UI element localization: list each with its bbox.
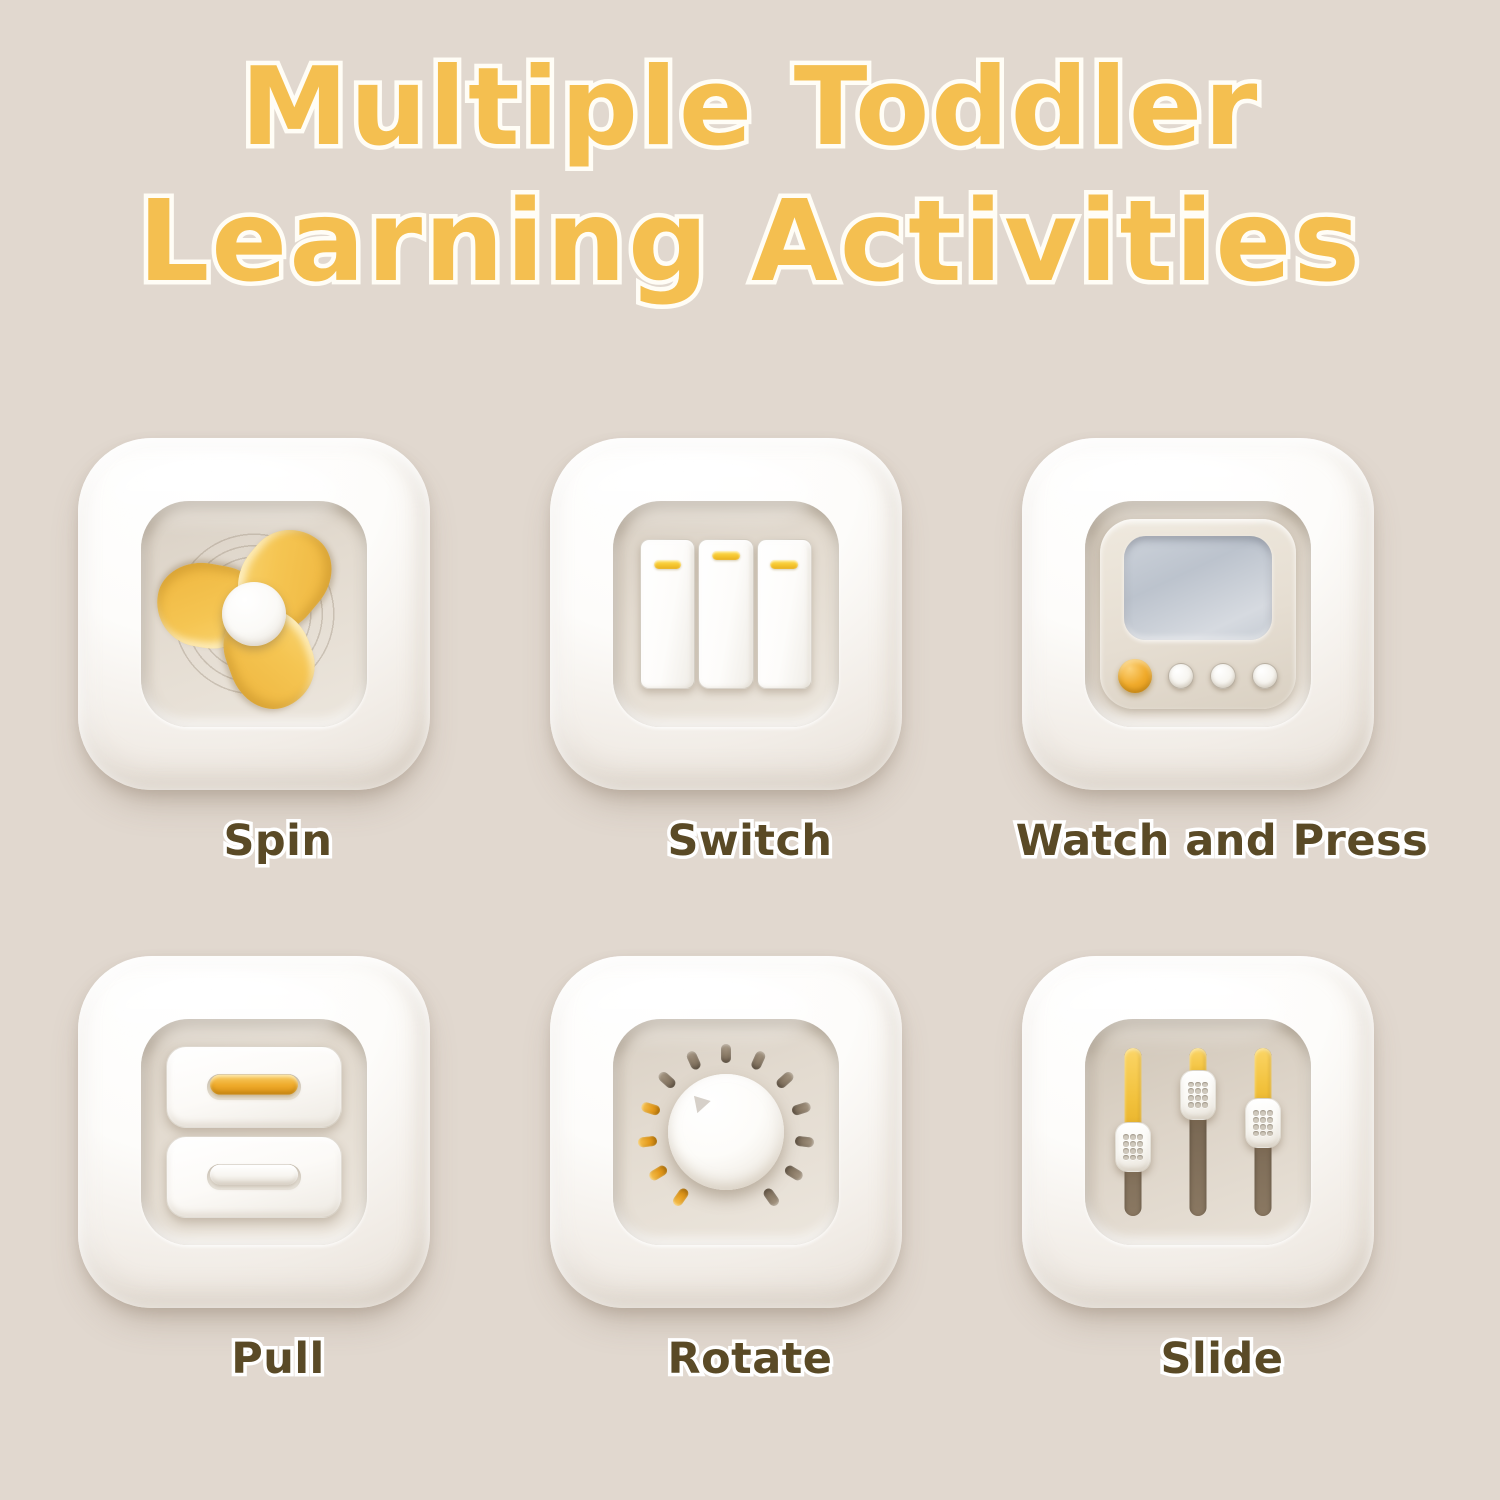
rotary-tick-body: [791, 1101, 812, 1116]
fader-thumb[interactable]: [1245, 1098, 1281, 1148]
rotary-knob-icon[interactable]: [668, 1074, 784, 1190]
activity-caption-spin: Spin: [28, 816, 528, 866]
activity-cell-slide: Slide: [972, 936, 1472, 1466]
grip-dot: [1260, 1124, 1266, 1129]
grip-dot: [1195, 1095, 1201, 1100]
fader-thumb-grip: [1253, 1110, 1273, 1136]
rotary-tick: [750, 1049, 767, 1070]
slider-fader-1[interactable]: [1116, 1048, 1150, 1216]
rotary-tick-body: [783, 1163, 804, 1181]
activity-caption-watch-and-press: Watch and Press: [972, 816, 1472, 866]
switch-indicator-led: [770, 560, 798, 569]
rocker-switch-2[interactable]: [698, 539, 753, 689]
slider-fader-3[interactable]: [1246, 1048, 1280, 1216]
fader-thumb-grip: [1188, 1082, 1208, 1108]
activity-caption-pull: Pull: [28, 1334, 528, 1384]
grip-dot: [1137, 1155, 1143, 1160]
grip-dot: [1267, 1124, 1273, 1129]
rotary-tick-body: [721, 1044, 731, 1063]
grip-dot: [1137, 1134, 1143, 1139]
activity-caption-slide: Slide: [972, 1334, 1472, 1384]
grip-dot: [1267, 1110, 1273, 1115]
activity-cell-watch-and-press: Watch and Press: [972, 418, 1472, 948]
grip-dot: [1188, 1088, 1194, 1093]
fan-icon[interactable]: [154, 514, 354, 714]
activity-tile-switch[interactable]: [550, 438, 902, 790]
grip-dot: [1260, 1117, 1266, 1122]
activity-tile-rotate[interactable]: [550, 956, 902, 1308]
tile-inset-well: [613, 501, 839, 727]
grip-dot: [1260, 1131, 1266, 1136]
grip-dot: [1137, 1148, 1143, 1153]
tv-screen: [1124, 536, 1272, 640]
rotary-tick-body: [637, 1135, 657, 1147]
grip-dot: [1202, 1088, 1208, 1093]
grip-dot: [1253, 1131, 1259, 1136]
activity-cell-rotate: Rotate: [500, 936, 1000, 1466]
grip-dot: [1123, 1148, 1129, 1153]
activity-cell-pull: Pull: [28, 936, 528, 1466]
rotary-tick-body: [794, 1135, 814, 1147]
slider-fader-2[interactable]: [1181, 1048, 1215, 1216]
activity-caption-rotate: Rotate: [500, 1334, 1000, 1384]
activity-cell-switch: Switch: [500, 418, 1000, 948]
activity-grid: Spin Switch: [0, 418, 1500, 1478]
tv-button-2[interactable]: [1168, 663, 1194, 689]
grip-dot: [1253, 1124, 1259, 1129]
switch-indicator-led: [654, 560, 682, 569]
page-title: Multiple Toddler Learning Activities: [0, 42, 1500, 310]
grip-dot: [1202, 1082, 1208, 1087]
activity-tile-spin[interactable]: [78, 438, 430, 790]
fader-thumb-grip: [1123, 1134, 1143, 1160]
pull-tab-handle[interactable]: [210, 1075, 298, 1095]
grip-dot: [1188, 1102, 1194, 1107]
rotary-tick: [783, 1163, 804, 1181]
rocker-switch-icon: [640, 539, 812, 689]
rotary-tick-active: [640, 1101, 661, 1116]
tv-button-3[interactable]: [1210, 663, 1236, 689]
rotary-tick: [762, 1186, 781, 1207]
tile-inset-well: [613, 1019, 839, 1245]
rocker-switch-1[interactable]: [640, 539, 695, 689]
rotary-tick-body: [775, 1069, 796, 1089]
page-title-line-2: Learning Activities: [0, 174, 1500, 311]
rotary-tick-body: [671, 1186, 690, 1207]
tv-button-4[interactable]: [1252, 663, 1278, 689]
grip-dot: [1123, 1141, 1129, 1146]
grip-dot: [1267, 1117, 1273, 1122]
pull-tab-bottom[interactable]: [166, 1136, 342, 1218]
fan-hub: [222, 582, 286, 646]
grip-dot: [1130, 1134, 1136, 1139]
grip-dot: [1253, 1117, 1259, 1122]
grip-dot: [1195, 1088, 1201, 1093]
tile-inset-well: [141, 1019, 367, 1245]
rotary-tick-active: [671, 1186, 690, 1207]
grip-dot: [1260, 1110, 1266, 1115]
activity-tile-slide[interactable]: [1022, 956, 1374, 1308]
rotary-tick: [657, 1069, 678, 1089]
grip-dot: [1202, 1102, 1208, 1107]
grip-dot: [1195, 1082, 1201, 1087]
grip-dot: [1253, 1110, 1259, 1115]
grip-dot: [1195, 1102, 1201, 1107]
grip-dot: [1188, 1095, 1194, 1100]
grip-dot: [1202, 1095, 1208, 1100]
rotary-tick: [791, 1101, 812, 1116]
tv-button-primary[interactable]: [1118, 659, 1152, 693]
knob-pointer-icon: [687, 1090, 710, 1113]
grip-dot: [1137, 1141, 1143, 1146]
grip-dot: [1267, 1131, 1273, 1136]
tile-inset-well: [1085, 501, 1311, 727]
grip-dot: [1123, 1155, 1129, 1160]
activity-caption-switch: Switch: [500, 816, 1000, 866]
grip-dot: [1130, 1155, 1136, 1160]
pull-tab-icon: [166, 1046, 342, 1218]
pull-tab-handle[interactable]: [210, 1165, 298, 1185]
rotary-tick-body: [647, 1163, 668, 1181]
rotary-tick-active: [647, 1163, 668, 1181]
switch-indicator-led: [712, 551, 740, 560]
fader-thumb[interactable]: [1115, 1122, 1151, 1172]
rotary-tick-body: [640, 1101, 661, 1116]
activity-tile-pull[interactable]: [78, 956, 430, 1308]
tile-inset-well: [141, 501, 367, 727]
page-title-line-1: Multiple Toddler: [0, 42, 1500, 174]
tile-inset-well: [1085, 1019, 1311, 1245]
pull-tab-top[interactable]: [166, 1046, 342, 1128]
rotary-tick-body: [762, 1186, 781, 1207]
grip-dot: [1188, 1082, 1194, 1087]
activity-tile-watch-and-press[interactable]: [1022, 438, 1374, 790]
grip-dot: [1123, 1134, 1129, 1139]
rocker-switch-3[interactable]: [757, 539, 812, 689]
grip-dot: [1130, 1141, 1136, 1146]
activity-cell-spin: Spin: [28, 418, 528, 948]
tv-icon: [1100, 519, 1296, 709]
rotary-tick-body: [750, 1049, 767, 1070]
rotary-tick: [685, 1049, 702, 1070]
slider-fader-icon: [1116, 1048, 1280, 1216]
rotary-tick: [794, 1135, 814, 1147]
rotary-tick-body: [657, 1069, 678, 1089]
rotary-tick-active: [637, 1135, 657, 1147]
rotary-tick: [721, 1044, 731, 1063]
tv-button-row: [1118, 659, 1278, 693]
grip-dot: [1130, 1148, 1136, 1153]
fader-thumb[interactable]: [1180, 1070, 1216, 1120]
rotary-tick: [775, 1069, 796, 1089]
rotary-tick-body: [685, 1049, 702, 1070]
